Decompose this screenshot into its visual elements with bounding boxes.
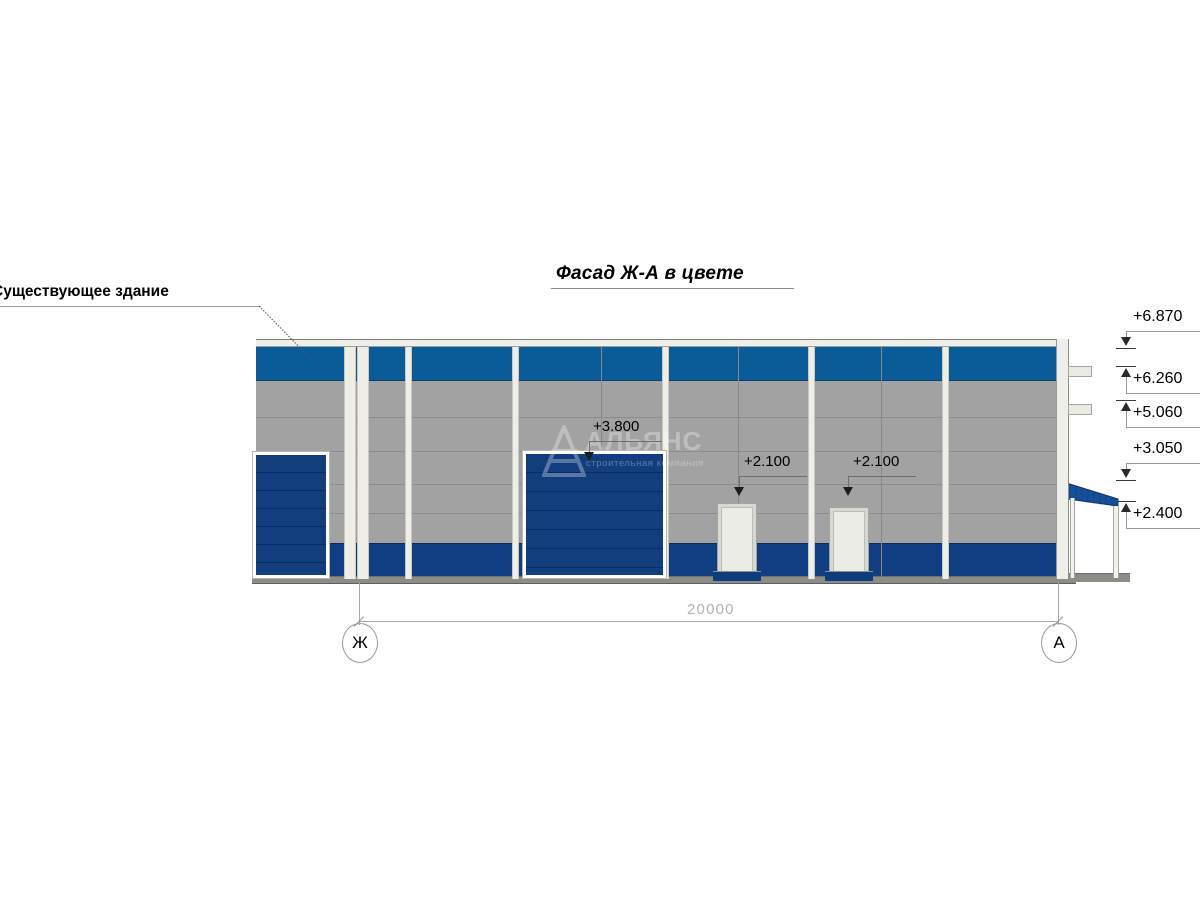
- elevation-rule-5060: [1126, 427, 1200, 428]
- callout-arrow-2100-left: [734, 487, 744, 496]
- callout-rule-2100-left: [739, 476, 807, 477]
- callout-rule-3800: [589, 441, 662, 442]
- elevation-bar-6870: [1116, 348, 1136, 349]
- grid-bubble-right-label: А: [1053, 633, 1064, 653]
- door-step-left: [713, 571, 761, 581]
- gate-leaf: [256, 455, 326, 575]
- title-underline: [551, 288, 794, 289]
- elevation-arrow-up-6260: [1121, 368, 1131, 377]
- existing-building-leader-line: [256, 300, 376, 370]
- canopy-post-outer: [1113, 506, 1119, 578]
- elevation-arrow-down-3050: [1121, 469, 1131, 478]
- grid-bubble-left[interactable]: Ж: [342, 623, 378, 663]
- column-strip: [344, 347, 356, 579]
- elevation-rule-2400: [1126, 528, 1200, 529]
- dimension-label: 20000: [687, 601, 735, 618]
- elevation-label-6260: +6.260: [1133, 370, 1182, 388]
- column-strip: [357, 347, 369, 579]
- elevation-label-3050: +3.050: [1133, 440, 1182, 458]
- elevation-stem-6260: [1126, 377, 1127, 393]
- callout-label-2100-left: +2.100: [744, 453, 790, 470]
- drawing-canvas: Фасад Ж-А в цвете Существующее здание: [0, 0, 1200, 900]
- door-step-right: [825, 571, 873, 581]
- door-leaf: [721, 507, 753, 574]
- callout-arrow-3800: [584, 452, 594, 461]
- callout-arrow-2100-right: [843, 487, 853, 496]
- elevation-label-6870: +6.870: [1133, 308, 1182, 326]
- elevation-arrow-down-6870: [1121, 337, 1131, 346]
- column-strip: [512, 347, 519, 579]
- elevation-rule-6870: [1126, 331, 1200, 332]
- wall-ledge-lower: [1068, 404, 1092, 415]
- ground-line: [252, 583, 1076, 584]
- elevation-rule-3050: [1126, 463, 1200, 464]
- personnel-door-right[interactable]: [829, 507, 869, 578]
- door-leaf: [833, 511, 865, 574]
- column-strip: [808, 347, 815, 579]
- dimension-line: [359, 621, 1058, 622]
- existing-building-leader-rule: [0, 306, 261, 307]
- parapet-cap: [256, 339, 1068, 347]
- wall-ledge-upper: [1068, 366, 1092, 377]
- column-strip: [405, 347, 412, 579]
- canopy-post-inner: [1070, 498, 1075, 578]
- gate-leaf: [526, 454, 663, 575]
- elevation-label-2400: +2.400: [1133, 505, 1182, 523]
- elevation-bar-6260: [1116, 366, 1136, 367]
- grid-bubble-left-label: Ж: [352, 633, 368, 653]
- personnel-door-left[interactable]: [717, 503, 757, 578]
- elevation-bar-5060: [1116, 400, 1136, 401]
- callout-label-3800: +3.800: [593, 418, 639, 435]
- page-title: Фасад Ж-А в цвете: [556, 263, 744, 285]
- callout-rule-2100-right: [848, 476, 916, 477]
- column-strip: [942, 347, 949, 579]
- elevation-stem-2400: [1126, 512, 1127, 528]
- existing-building-label: Существующее здание: [0, 283, 169, 301]
- sectional-gate-left[interactable]: [252, 451, 330, 579]
- elevation-rule-6260: [1126, 393, 1200, 394]
- elevation-label-5060: +5.060: [1133, 404, 1182, 422]
- elevation-arrow-up-2400: [1121, 503, 1131, 512]
- elevation-stem-5060: [1126, 411, 1127, 427]
- building-facade: [256, 339, 1068, 579]
- elevation-arrow-up-5060: [1121, 402, 1131, 411]
- sectional-gate-main[interactable]: [522, 450, 667, 579]
- callout-label-2100-right: +2.100: [853, 453, 899, 470]
- grid-bubble-right[interactable]: А: [1041, 623, 1077, 663]
